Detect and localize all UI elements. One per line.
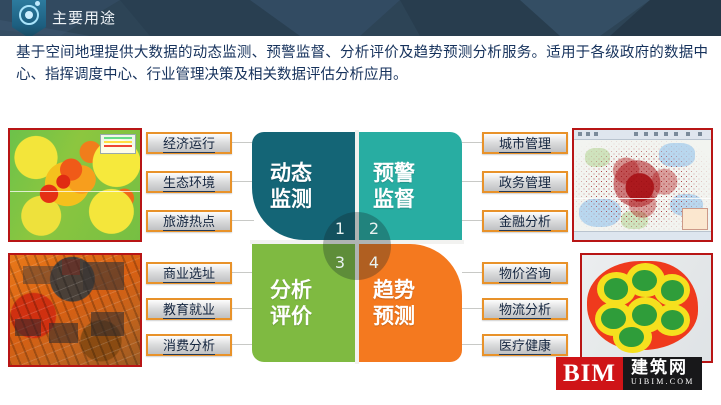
chip-financial-analysis[interactable]: 金融分析 xyxy=(482,210,568,232)
chip-economic-operation[interactable]: 经济运行 xyxy=(146,132,232,154)
quadrant-line1: 分析 xyxy=(270,277,312,303)
watermark-cn: 建筑网 xyxy=(631,360,695,377)
connector-line xyxy=(232,344,254,345)
chip-business-site-selection[interactable]: 商业选址 xyxy=(146,262,232,284)
quadrant-line2: 预测 xyxy=(373,303,415,329)
aerial-market-photo-thumbnail xyxy=(8,253,142,367)
slide-canvas: 主要用途 基于空间地理提供大数据的动态监测、预警监督、分析评价及趋势预测分析服务… xyxy=(0,0,721,405)
map-inset xyxy=(682,208,708,230)
heatmap-thumbnail xyxy=(8,128,142,242)
quadrant-trend-forecast[interactable]: 趋势 预测 xyxy=(359,244,462,362)
gis-toolbar[interactable] xyxy=(574,130,711,140)
quadrant-line1: 动态 xyxy=(270,160,312,186)
quadrant-analysis-evaluation[interactable]: 分析 评价 xyxy=(252,244,355,362)
connector-line xyxy=(462,344,482,345)
quadrant-dynamic-monitoring[interactable]: 动态 监测 xyxy=(252,132,355,240)
chip-medical-health[interactable]: 医疗健康 xyxy=(482,334,568,356)
connector-line xyxy=(462,181,482,182)
watermark-brand: BIM xyxy=(556,357,623,390)
chip-education-employment[interactable]: 教育就业 xyxy=(146,298,232,320)
map-legend xyxy=(100,134,136,154)
quadrant-line1: 预警 xyxy=(373,160,415,186)
connector-line xyxy=(462,272,482,273)
quadrant-early-warning-supervision[interactable]: 预警 监督 xyxy=(359,132,462,240)
chip-ecological-environment[interactable]: 生态环境 xyxy=(146,171,232,193)
gis-statusbar xyxy=(574,231,711,240)
quadrant-line2: 评价 xyxy=(270,303,312,329)
connector-line xyxy=(232,142,254,143)
chip-consumption-analysis[interactable]: 消费分析 xyxy=(146,334,232,356)
chip-tourism-hotspot[interactable]: 旅游热点 xyxy=(146,210,232,232)
connector-line xyxy=(462,308,482,309)
connector-line xyxy=(232,181,254,182)
quadrant-line2: 监督 xyxy=(373,186,415,212)
page-title: 主要用途 xyxy=(52,7,116,28)
slide-header: 主要用途 xyxy=(0,0,721,36)
connector-line xyxy=(462,220,482,221)
connector-line xyxy=(232,272,254,273)
chip-government-affairs[interactable]: 政务管理 xyxy=(482,171,568,193)
chip-urban-management[interactable]: 城市管理 xyxy=(482,132,568,154)
buffer-contour-analysis-map-thumbnail xyxy=(580,253,713,363)
chip-price-consultation[interactable]: 物价咨询 xyxy=(482,262,568,284)
watermark-domain: UIBIM.COM xyxy=(631,377,695,387)
connector-line xyxy=(232,220,254,221)
gis-point-density-map-thumbnail xyxy=(572,128,713,242)
connector-line xyxy=(462,142,482,143)
intro-paragraph: 基于空间地理提供大数据的动态监测、预警监督、分析评价及趋势预测分析服务。适用于各… xyxy=(16,42,708,86)
quadrant-line2: 监测 xyxy=(270,186,312,212)
quadrant-line1: 趋势 xyxy=(373,277,415,303)
connector-line xyxy=(232,308,254,309)
watermark: BIM 建筑网 UIBIM.COM xyxy=(556,357,702,390)
chip-logistics-analysis[interactable]: 物流分析 xyxy=(482,298,568,320)
